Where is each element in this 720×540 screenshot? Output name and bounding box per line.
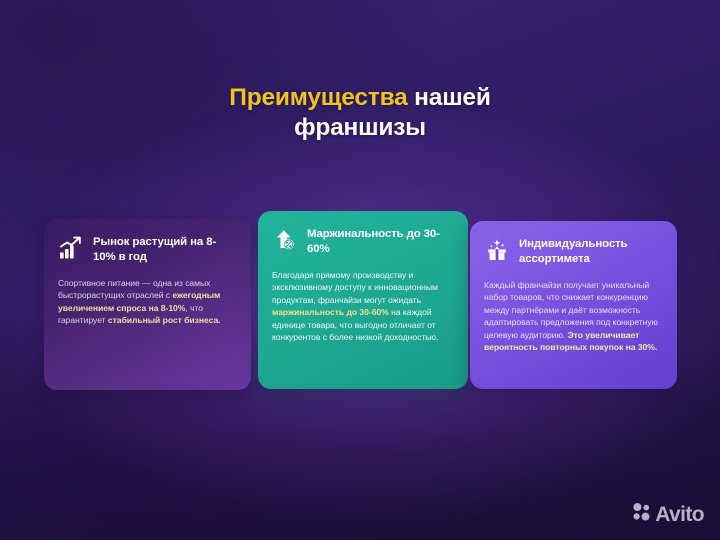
benefit-card-assortment[interactable]: Индивидуальность ассортимета Каждый фран… [470,221,677,389]
card-content: Рынок растущий на 8-10% в год Спортивное… [44,219,251,390]
card-body: Спортивное питание — одна из самых быстр… [58,277,235,327]
card-title: Маржинальность до 30-60% [307,226,452,256]
arrow-up-percent-icon [272,227,298,253]
avito-watermark: Avito [632,502,704,526]
card-content: Маржинальность до 30-60% Благодаря прямо… [258,211,468,389]
title-rest-line-1: нашей [408,84,491,111]
card-title: Рынок растущий на 8-10% в год [93,234,235,264]
card-header: Индивидуальность ассортимета [484,236,661,266]
benefit-card-margin[interactable]: Маржинальность до 30-60% Благодаря прямо… [258,211,468,389]
card-body: Благодаря прямому производству и эксклюз… [272,269,452,343]
bar-chart-growth-icon [58,235,84,261]
card-body-part: Благодаря прямому производству и эксклюз… [272,270,438,305]
card-body-highlight: стабильный рост бизнеса. [108,315,221,325]
card-content: Индивидуальность ассортимета Каждый фран… [470,221,677,389]
card-title: Индивидуальность ассортимета [519,236,661,266]
title-line-1: Преимущества нашей [0,83,720,113]
avito-wordmark: Avito [655,504,704,525]
slide-canvas: Преимущества нашей франшизы Рынок растущ… [0,0,720,540]
benefit-card-market-growth[interactable]: Рынок растущий на 8-10% в год Спортивное… [44,219,251,390]
card-body-highlight: маржинальность до 30-60% [272,307,389,317]
card-header: Рынок растущий на 8-10% в год [58,234,235,264]
avito-dots-icon [632,502,651,526]
gift-box-sparkle-icon [484,237,510,263]
page-title: Преимущества нашей франшизы [0,83,720,143]
card-header: Маржинальность до 30-60% [272,226,452,256]
title-line-2: франшизы [0,113,720,143]
card-body: Каждый франчайзи получает уникальный наб… [484,279,661,353]
title-highlight-word: Преимущества [229,84,407,111]
